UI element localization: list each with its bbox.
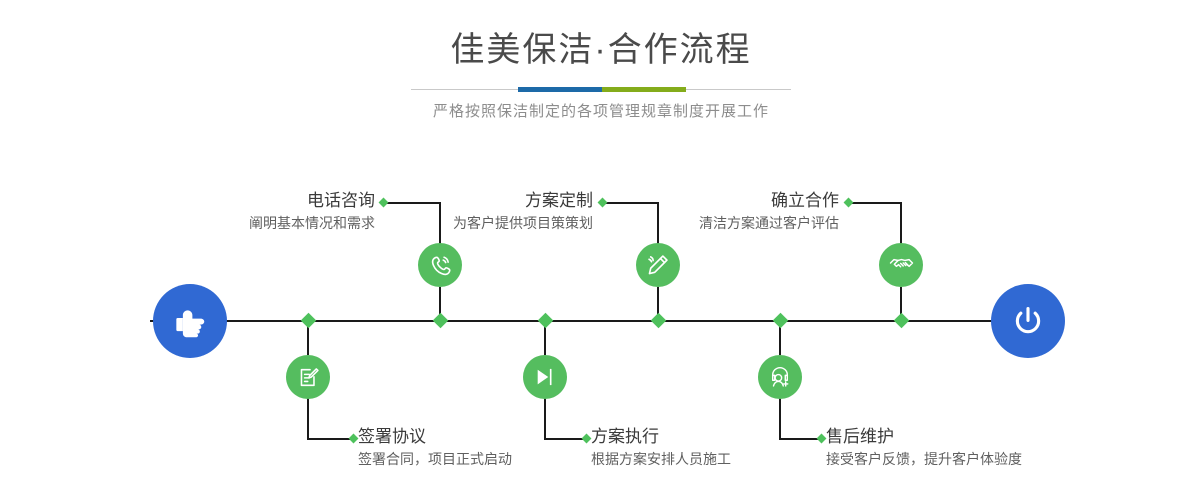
divider-segment-blue: [518, 87, 602, 92]
bullet-step6: [817, 434, 827, 444]
connector-step4-lower: [544, 398, 546, 440]
play-next-icon: [532, 364, 558, 390]
axis-marker-6: [894, 313, 910, 329]
cooperation-process-infographic: 佳美保洁·合作流程 严格按照保洁制定的各项管理规章制度开展工作: [0, 0, 1202, 502]
step-icon-5[interactable]: [879, 243, 923, 287]
sign-document-icon: [296, 365, 321, 390]
page-title: 佳美保洁·合作流程: [0, 30, 1202, 70]
pencil-design-icon: [645, 252, 671, 278]
bullet-step4: [582, 434, 592, 444]
step-desc-4: 根据方案安排人员施工: [591, 449, 731, 469]
step-label-3: 方案定制 为客户提供项目策策划: [400, 190, 593, 233]
step-title-3: 方案定制: [400, 190, 593, 212]
timeline-axis: [150, 320, 1050, 322]
step-icon-4[interactable]: [523, 355, 567, 399]
step-label-6: 售后维护 接受客户反馈，提升客户体验度: [826, 426, 1022, 469]
connector-step2-arm: [307, 438, 354, 440]
step-icon-3[interactable]: [636, 243, 680, 287]
step-title-6: 售后维护: [826, 426, 1022, 448]
axis-marker-3: [538, 313, 554, 329]
title-divider: [411, 87, 791, 92]
step-title-2: 签署协议: [358, 426, 512, 448]
axis-marker-2: [433, 313, 449, 329]
handshake-icon: [888, 252, 915, 279]
step-title-4: 方案执行: [591, 426, 731, 448]
step-desc-2: 签署合同，项目正式启动: [358, 449, 512, 469]
step-title-5: 确立合作: [640, 190, 839, 212]
axis-marker-1: [301, 313, 317, 329]
timeline-end-node[interactable]: [991, 284, 1065, 358]
step-icon-6[interactable]: [758, 355, 802, 399]
axis-marker-5: [773, 313, 789, 329]
connector-step5-arm: [851, 202, 902, 204]
bullet-step3: [598, 198, 608, 208]
step-title-1: 电话咨询: [150, 190, 375, 212]
headset-support-icon: [767, 364, 793, 390]
bullet-step1: [379, 198, 389, 208]
step-desc-5: 清洁方案通过客户评估: [640, 213, 839, 233]
power-icon: [1008, 301, 1048, 341]
connector-step5-upper: [900, 202, 902, 246]
step-desc-1: 阐明基本情况和需求: [150, 213, 375, 233]
step-label-5: 确立合作 清洁方案通过客户评估: [640, 190, 839, 233]
bullet-step2: [349, 434, 359, 444]
step-desc-3: 为客户提供项目策策划: [400, 213, 593, 233]
bullet-step5: [844, 198, 854, 208]
step-label-1: 电话咨询 阐明基本情况和需求: [150, 190, 375, 233]
connector-step2-lower: [307, 398, 309, 440]
header: 佳美保洁·合作流程 严格按照保洁制定的各项管理规章制度开展工作: [0, 30, 1202, 122]
connector-step6-lower: [779, 398, 781, 440]
page-subtitle: 严格按照保洁制定的各项管理规章制度开展工作: [0, 102, 1202, 122]
step-label-2: 签署协议 签署合同，项目正式启动: [358, 426, 512, 469]
step-desc-6: 接受客户反馈，提升客户体验度: [826, 449, 1022, 469]
step-icon-2[interactable]: [286, 355, 330, 399]
timeline-start-node[interactable]: [153, 284, 227, 358]
step-icon-1[interactable]: [418, 243, 462, 287]
pointing-hand-icon: [171, 302, 209, 340]
axis-marker-4: [651, 313, 667, 329]
divider-segment-green: [602, 87, 686, 92]
step-label-4: 方案执行 根据方案安排人员施工: [591, 426, 731, 469]
phone-call-icon: [427, 252, 453, 278]
